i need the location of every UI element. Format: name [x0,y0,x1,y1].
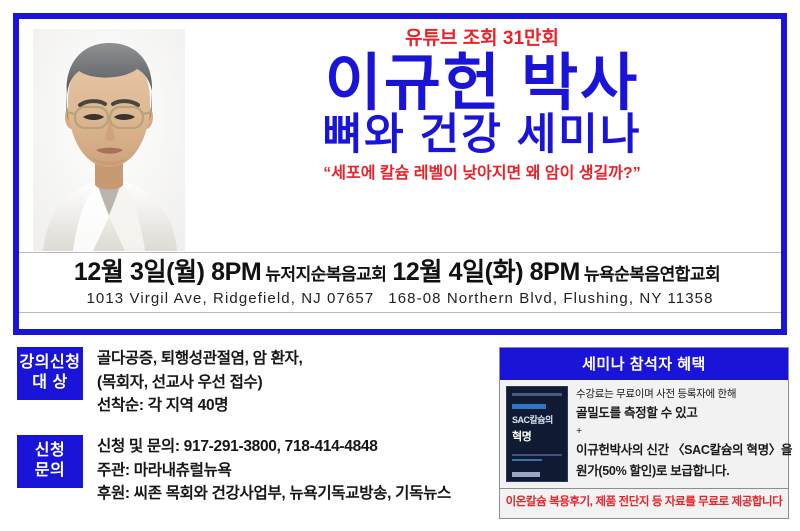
poster-title: 이규헌 박사 [189,52,775,115]
badge-target-audience: 강의신청 대 상 [17,347,83,400]
headline-column: 유튜브 조회 31만회 이규헌 박사 뼈와 건강 세미나 “세포에 칼슘 레벨이… [189,25,775,183]
benefits-line-2: 골밀도를 측정할 수 있고 [576,403,782,423]
book-sub-rule-1 [512,454,562,456]
speaker-portrait-photo [33,29,185,251]
benefits-text: 수강료는 무료이며 사전 등록자에 한해 골밀도를 측정할 수 있고 + 이규헌… [576,386,782,481]
schedule-venue-2: 뉴욕순복음연합교회 [580,260,726,285]
youtube-views-label: 유튜브 조회 31만회 [189,29,775,50]
schedule-address-2: 168-08 Northern Blvd, Flushing, NY 11358 [381,290,720,307]
poster-quote: “세포에 칼슘 레벨이 낮아지면 왜 암이 생길까?” [189,164,775,183]
badge-line-1: 강의신청 [17,353,83,373]
book-title-line-1: SAC칼슘의 [512,413,562,426]
target-audience-lines: 골다공증, 퇴행성관절염, 암 환자, (목회자, 선교사 우선 접수) 선착순… [97,347,483,418]
contact-lines: 신청 및 문의: 917-291-3800, 718-414-4848 주관: … [97,435,483,506]
contact-organizer-line: 주관: 마라내츄럴뉴욕 [97,459,483,483]
book-accent-band [512,404,546,409]
poster-subtitle: 뼈와 건강 세미나 [189,113,775,158]
benefits-panel-body: SAC칼슘의 혁명 수강료는 무료이며 사전 등록자에 한해 골밀도를 측정할 … [500,380,788,488]
schedule-address-1: 1013 Virgil Ave, Ridgefield, NJ 07657 [79,290,381,307]
seminar-poster: 유튜브 조회 31만회 이규헌 박사 뼈와 건강 세미나 “세포에 칼슘 레벨이… [0,0,800,531]
badge-contact: 신청 문의 [17,435,83,488]
target-audience-line-1: 골다공증, 퇴행성관절염, 암 환자, [97,347,483,371]
badge-line-2: 대 상 [17,373,83,393]
badge-line-1: 신청 [17,441,83,461]
info-row-target-audience: 강의신청 대 상 골다공증, 퇴행성관절염, 암 환자, (목회자, 선교사 우… [13,347,483,425]
schedule-datetime-2: 12월 4일(화) 8PM [392,259,579,287]
schedule-strip: 12월 3일(월) 8PM뉴저지순복음교회12월 4일(화) 8PM뉴욕순복음연… [19,252,781,313]
badge-line-2: 문의 [17,461,83,481]
benefits-panel-footer: 이온칼슘 복용후기, 제품 전단지 등 자료를 무료로 제공합니다 [500,488,788,513]
benefits-line-5: 원가(50% 할인)로 보급합니다. [576,461,782,481]
benefits-panel-header: 세미나 참석자 혜택 [500,348,788,380]
schedule-venue-1: 뉴저지순복음교회 [261,260,392,285]
registration-info-block: 강의신청 대 상 골다공증, 퇴행성관절염, 암 환자, (목회자, 선교사 우… [13,347,483,522]
info-row-contact: 신청 문의 신청 및 문의: 917-291-3800, 718-414-484… [13,435,483,513]
target-audience-line-3: 선착순: 각 지역 40명 [97,394,483,418]
book-cover-thumbnail: SAC칼슘의 혁명 [506,386,568,482]
book-title-line-2: 혁명 [512,428,562,444]
contact-phone-line[interactable]: 신청 및 문의: 917-291-3800, 718-414-4848 [97,435,483,459]
schedule-divider [19,312,781,313]
benefits-panel: 세미나 참석자 혜택 SAC칼슘의 혁명 수강료는 무료이며 사전 등록자에 한… [499,347,789,519]
target-audience-line-2: (목회자, 선교사 우선 접수) [97,371,483,395]
book-top-rule [512,393,562,396]
benefits-line-4: 이규헌박사의 신간 〈SAC칼슘의 혁명〉을 [576,440,782,460]
benefits-line-1: 수강료는 무료이며 사전 등록자에 한해 [576,386,782,403]
benefits-line-3: + [576,423,782,440]
schedule-datetime-1: 12월 3일(월) 8PM [74,259,261,287]
book-publisher-mark [512,472,540,477]
contact-sponsor-line: 후원: 씨존 목회와 건강사업부, 뉴욕기독교방송, 기독뉴스 [97,482,483,506]
book-sub-rule-2 [512,459,542,461]
poster-top-frame: 유튜브 조회 31만회 이규헌 박사 뼈와 건강 세미나 “세포에 칼슘 레벨이… [13,13,787,335]
